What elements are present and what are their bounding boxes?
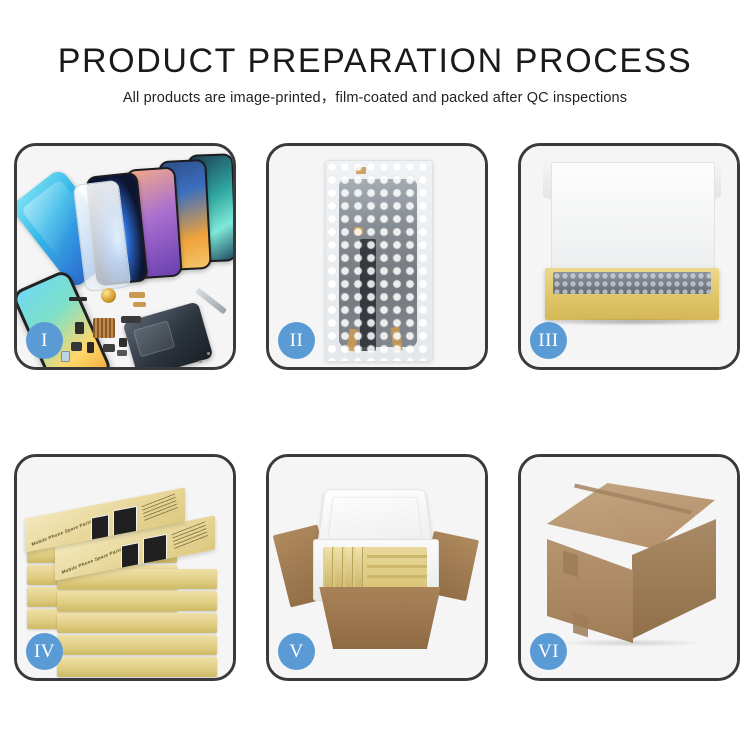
screw-part-icon: [207, 352, 210, 355]
kraft-box-tray-icon: [545, 268, 719, 320]
flex-cable-part-icon: [121, 316, 141, 323]
component-part-icon: [71, 342, 82, 351]
component-part-icon: [87, 342, 94, 353]
bar-part-icon: [69, 297, 87, 301]
process-panel-1[interactable]: I: [14, 143, 236, 370]
coil-part-icon: [101, 288, 116, 303]
component-part-icon: [75, 322, 84, 334]
page-header: PRODUCT PREPARATION PROCESS All products…: [0, 0, 750, 130]
inner-box-edge: [335, 547, 343, 589]
stacked-box: [57, 635, 217, 655]
inner-box-line: [367, 565, 427, 568]
bubble-padding-icon: [553, 272, 711, 294]
component-part-icon: [103, 344, 115, 352]
step-badge-2: II: [278, 322, 315, 359]
inner-box-edge: [355, 547, 363, 589]
component-part-icon: [119, 338, 127, 347]
carton-tape-icon: [573, 613, 588, 638]
component-part-icon: [117, 350, 127, 356]
step-badge-6: VI: [530, 633, 567, 670]
page-title: PRODUCT PREPARATION PROCESS: [0, 41, 750, 81]
box-spec-lines: [172, 521, 209, 551]
inner-box-edge: [325, 547, 333, 589]
flex-cable-part-icon: [129, 292, 145, 298]
process-panel-grid: I II III: [14, 143, 740, 683]
step-badge-1: I: [26, 322, 63, 359]
process-panel-4[interactable]: Mobile Phone Spare Parts Mobile Phone Sp…: [14, 454, 236, 681]
stacked-box: [57, 591, 217, 611]
carton-shadow: [555, 639, 705, 647]
component-part-icon: [61, 351, 70, 362]
page-subtitle: All products are image-printed，film-coat…: [0, 88, 750, 108]
bubble-wrap-bag-icon: [325, 160, 433, 362]
white-box-lid-icon: [551, 162, 715, 274]
process-panel-3[interactable]: III: [518, 143, 740, 370]
inner-box-edge: [345, 547, 353, 589]
step-badge-4: IV: [26, 633, 63, 670]
carton-body-icon: [311, 587, 449, 649]
screw-part-icon: [199, 360, 202, 363]
copper-grid-part-icon: [93, 318, 115, 338]
step-badge-3: III: [530, 322, 567, 359]
step-badge-5: V: [278, 633, 315, 670]
process-panel-5[interactable]: V: [266, 454, 488, 681]
stacked-box: [57, 613, 217, 633]
carton-tape-icon: [563, 551, 578, 578]
flex-cable-part-icon: [133, 302, 146, 307]
inner-box-line: [367, 575, 427, 578]
process-panel-2[interactable]: II: [266, 143, 488, 370]
stacked-box: [57, 657, 217, 677]
box-shadow: [551, 318, 715, 326]
bubble-texture-overlay: [326, 161, 432, 361]
kraft-boxes-inside-icon: [323, 547, 427, 589]
carton-front-face-icon: [547, 539, 633, 643]
inner-box-line: [367, 555, 427, 558]
process-panel-6[interactable]: VI: [518, 454, 740, 681]
box-spec-lines: [142, 493, 179, 523]
